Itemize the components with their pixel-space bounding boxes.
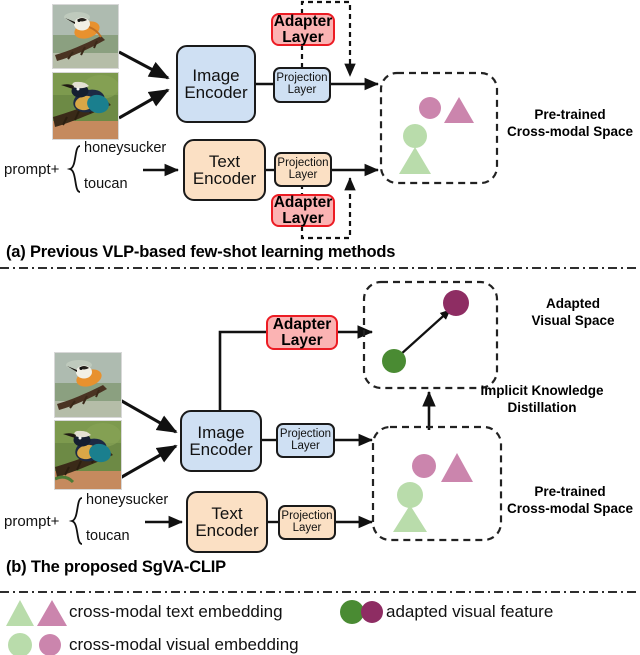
panel-a-image-adapter-layer[interactable]: Adapter Layer [271, 13, 335, 46]
panel-a-text-encoder[interactable]: Text Encoder [183, 139, 266, 201]
panel-a-image-adapter-line1: Adapter [274, 14, 333, 30]
panel-a-pink-circle [419, 97, 441, 119]
panel-a-prompt-label: prompt+ [4, 161, 59, 178]
panel-b-text-projection-line2: Layer [281, 523, 332, 535]
panel-b-adapted-space-line1: Adapted [508, 296, 638, 313]
panel-b-class-honeysucker: honeysucker [86, 492, 168, 508]
legend-dark-magenta-circle-icon [361, 601, 383, 623]
panel-b-pink-triangle [441, 453, 473, 482]
panel-b-class-toucan: toucan [86, 528, 130, 544]
panel-b-crossmodal-space-box [373, 427, 501, 540]
panel-b-text-projection-layer[interactable]: Projection Layer [278, 505, 336, 540]
panel-a-green-circle [403, 124, 427, 148]
panel-b-adapter-line2: Layer [273, 333, 332, 349]
panel-b-image-encoder-line1: Image [189, 424, 252, 441]
panel-b-text-projection-line1: Projection [281, 511, 332, 523]
legend-pink-triangle-icon [37, 600, 67, 626]
panel-b-green-triangle [393, 505, 427, 532]
panel-a-text-adapter-line1: Adapter [274, 195, 333, 211]
panel-b-adapted-magenta-dot [443, 290, 469, 316]
panel-a-crossmodal-space-box [381, 73, 497, 183]
panel-a-text-encoder-line1: Text [193, 153, 256, 170]
panel-b-adapted-green-dot [382, 349, 406, 373]
panel-b-prompt-brace [72, 498, 82, 544]
panel-a-image-projection-line2: Layer [276, 85, 327, 97]
panel-b-image-encoder[interactable]: Image Encoder [180, 410, 262, 472]
legend-dark-green-circle-icon [340, 600, 364, 624]
panel-b-text-encoder-line1: Text [195, 505, 258, 522]
panel-a-pink-triangle [444, 97, 474, 123]
figure-root: Image Encoder Projection Layer Adapter L… [0, 0, 640, 640]
legend-visual-embedding-label: cross-modal visual embedding [69, 635, 299, 655]
panel-a-toucan-photo [52, 72, 119, 140]
panel-a-text-projection-line2: Layer [277, 170, 328, 182]
panel-b-adapted-space-line2: Visual Space [508, 313, 638, 330]
panel-b-pretrained-space-line1: Pre-trained [500, 484, 640, 501]
panel-a-image-adapter-line2: Layer [274, 30, 333, 46]
panel-a-space-label-line1: Pre-trained [500, 107, 640, 124]
panel-a-image-encoder-line1: Image [184, 67, 247, 84]
legend-adapted-visual-feature-label: adapted visual feature [386, 602, 553, 622]
panel-a-image-projection-layer[interactable]: Projection Layer [273, 67, 331, 103]
panel-b-adapted-space-label: Adapted Visual Space [508, 296, 638, 330]
panel-b-distillation-label: Implicit Knowledge Distillation [444, 383, 640, 417]
panel-a-green-triangle [399, 147, 431, 174]
panel-a-text-adapter-line2: Layer [274, 211, 333, 227]
panel-b-image-projection-line2: Layer [280, 441, 331, 453]
panel-b-caption: (b) The proposed SgVA-CLIP [6, 558, 226, 577]
panel-a-image-encoder-line2: Encoder [184, 84, 247, 101]
panel-b-green-circle [397, 482, 423, 508]
panel-b-image-encoder-line2: Encoder [189, 441, 252, 458]
panel-a-text-projection-layer[interactable]: Projection Layer [274, 152, 332, 187]
panel-b-photo-arrows [120, 400, 176, 478]
panel-b-pretrained-space-line2: Cross-modal Space [500, 501, 640, 518]
legend-text-embedding-label: cross-modal text embedding [69, 602, 283, 622]
panel-a-honeysucker-photo [52, 4, 119, 69]
panel-b-pink-circle [412, 454, 436, 478]
panel-b-adapter-line1: Adapter [273, 317, 332, 333]
panel-b-adapted-space-box [364, 282, 497, 388]
panel-a-text-projection-line1: Projection [277, 158, 328, 170]
panel-a-class-honeysucker: honeysucker [84, 140, 166, 156]
panel-a-space-label: Pre-trained Cross-modal Space [500, 107, 640, 141]
legend-light-green-circle-icon [8, 633, 32, 655]
panel-b-distillation-line2: Distillation [444, 400, 640, 417]
panel-b-pretrained-space-label: Pre-trained Cross-modal Space [500, 484, 640, 518]
panel-a-photo-arrows [119, 52, 168, 118]
panel-a-image-encoder[interactable]: Image Encoder [176, 45, 256, 123]
panel-b-image-projection-layer[interactable]: Projection Layer [276, 423, 335, 458]
panel-b-distillation-line1: Implicit Knowledge [444, 383, 640, 400]
panel-b-text-encoder[interactable]: Text Encoder [186, 491, 268, 553]
panel-b-prompt-label: prompt+ [4, 513, 59, 530]
legend-light-pink-circle-icon [39, 634, 61, 655]
panel-a-text-encoder-line2: Encoder [193, 170, 256, 187]
panel-b-text-encoder-line2: Encoder [195, 522, 258, 539]
panel-a-space-label-line2: Cross-modal Space [500, 124, 640, 141]
panel-b-adapter-layer[interactable]: Adapter Layer [266, 315, 338, 350]
panel-a-class-toucan: toucan [84, 176, 128, 192]
legend-green-triangle-icon [6, 600, 34, 626]
panel-a-text-adapter-layer[interactable]: Adapter Layer [271, 194, 335, 227]
panel-b-honeysucker-photo [54, 352, 122, 418]
panel-b-toucan-photo [54, 420, 122, 490]
panel-b-feature-align-arrow [400, 310, 450, 355]
panel-b-image-projection-line1: Projection [280, 429, 331, 441]
panel-b-enc-branch-to-adapter [220, 332, 266, 412]
panel-a-prompt-brace [70, 146, 80, 192]
panel-a-caption: (a) Previous VLP-based few-shot learning… [6, 243, 395, 262]
